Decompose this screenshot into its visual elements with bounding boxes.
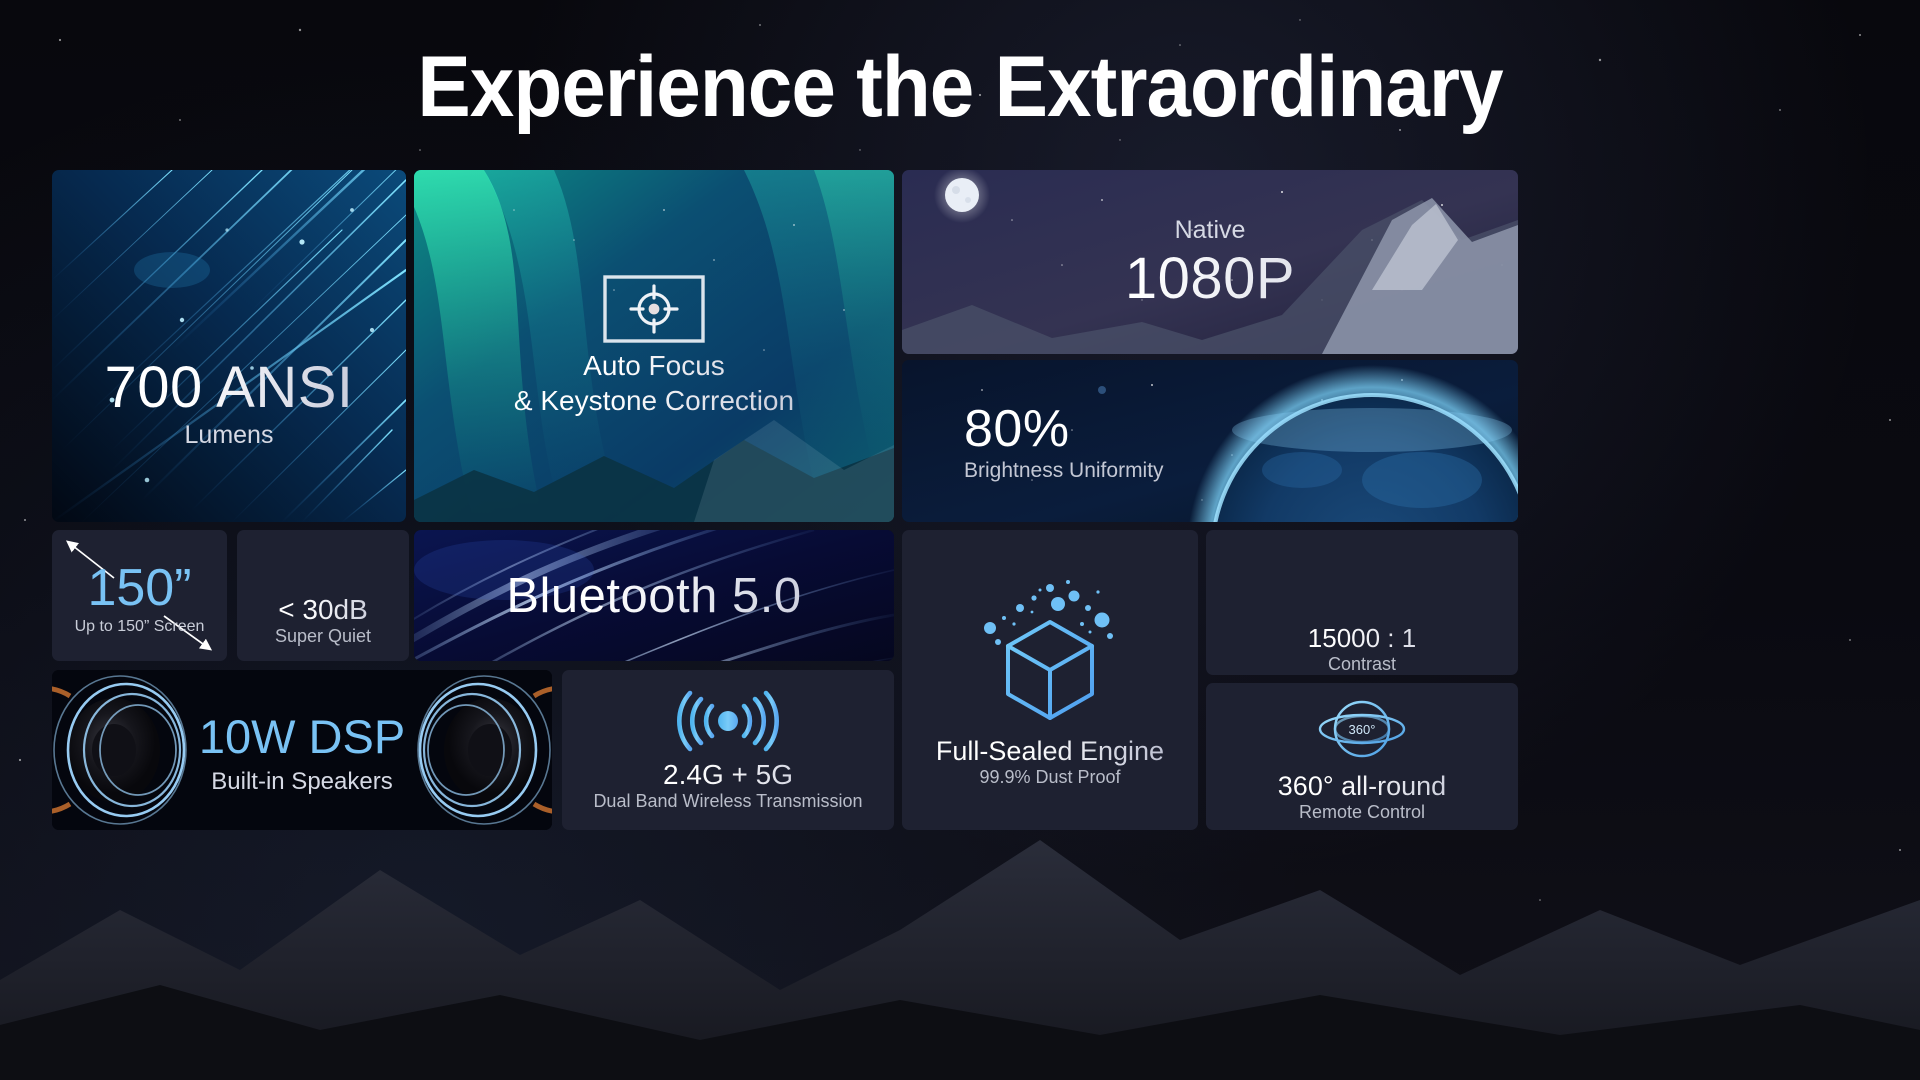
dust-proof-value: Full-Sealed Engine (902, 736, 1198, 767)
screen-size-text: 150” Up to 150” Screen (52, 558, 227, 636)
noise-caption: Super Quiet (237, 626, 409, 647)
tile-wifi[interactable]: 2.4G + 5G Dual Band Wireless Transmissio… (562, 670, 894, 830)
contrast-value: 15000 : 1 (1206, 623, 1518, 654)
speakers-caption: Built-in Speakers (52, 768, 552, 796)
resolution-value: 1080P (902, 245, 1518, 312)
globe-icon-label: 360° (1349, 722, 1376, 737)
contrast-caption: Contrast (1206, 654, 1518, 675)
globe-orbit-icon: 360° (1312, 691, 1412, 767)
page-title: Experience the Extraordinary (67, 38, 1853, 137)
brightness-text: 700 ANSI Lumens (52, 354, 406, 450)
brightness-caption: Lumens (52, 421, 406, 450)
noise-text: < 30dB Super Quiet (237, 594, 409, 647)
remote-value: 360° all-round (1206, 771, 1518, 802)
speakers-value: 10W DSP (52, 709, 552, 764)
screen-size-value: 150” (52, 558, 227, 618)
autofocus-text: Auto Focus & Keystone Correction (414, 349, 894, 418)
dust-proof-caption: 99.9% Dust Proof (902, 767, 1198, 788)
tile-screen-size[interactable]: 150” Up to 150” Screen (52, 530, 227, 661)
tile-resolution[interactable]: Native 1080P (902, 170, 1518, 354)
tile-uniformity[interactable]: 80% Brightness Uniformity (902, 360, 1518, 522)
resolution-label: Native (902, 216, 1518, 245)
bluetooth-text: Bluetooth 5.0 (414, 568, 894, 624)
feature-grid: 700 ANSI Lumens (52, 170, 1518, 830)
wifi-text: 2.4G + 5G Dual Band Wireless Transmissio… (562, 759, 894, 812)
wifi-value: 2.4G + 5G (562, 759, 894, 791)
remote-text: 360° all-round Remote Control (1206, 771, 1518, 823)
brightness-value: 700 ANSI (52, 354, 406, 421)
tile-brightness[interactable]: 700 ANSI Lumens (52, 170, 406, 522)
radial-burst-icon (1318, 531, 1406, 617)
tile-remote[interactable]: 360° 360° all-round Remote Control (1206, 683, 1518, 830)
sound-wave-icon (258, 544, 388, 588)
resolution-text: Native 1080P (902, 216, 1518, 312)
autofocus-line1: Auto Focus (414, 349, 894, 383)
bluetooth-value: Bluetooth 5.0 (414, 568, 894, 624)
wireless-signal-icon (668, 689, 788, 753)
remote-caption: Remote Control (1206, 802, 1518, 823)
screen-size-caption: Up to 150” Screen (52, 618, 227, 636)
tile-autofocus[interactable]: Auto Focus & Keystone Correction (414, 170, 894, 522)
dust-proof-text: Full-Sealed Engine 99.9% Dust Proof (902, 736, 1198, 788)
autofocus-line2: & Keystone Correction (414, 384, 894, 418)
light-streaks-background (52, 170, 406, 522)
tile-bluetooth[interactable]: Bluetooth 5.0 (414, 530, 894, 661)
tile-dust-proof[interactable]: Full-Sealed Engine 99.9% Dust Proof (902, 530, 1198, 830)
sealed-cube-icon (970, 572, 1130, 722)
uniformity-text: 80% Brightness Uniformity (964, 399, 1518, 483)
uniformity-value: 80% (964, 399, 1518, 459)
wifi-caption: Dual Band Wireless Transmission (562, 791, 894, 812)
uniformity-caption: Brightness Uniformity (964, 459, 1518, 483)
tile-speakers[interactable]: 10W DSP Built-in Speakers (52, 670, 552, 830)
tile-contrast[interactable]: 15000 : 1 Contrast (1206, 530, 1518, 675)
tile-noise[interactable]: < 30dB Super Quiet (237, 530, 409, 661)
contrast-text: 15000 : 1 Contrast (1206, 623, 1518, 675)
autofocus-target-icon (602, 274, 706, 349)
noise-value: < 30dB (237, 594, 409, 626)
speakers-text: 10W DSP Built-in Speakers (52, 709, 552, 796)
